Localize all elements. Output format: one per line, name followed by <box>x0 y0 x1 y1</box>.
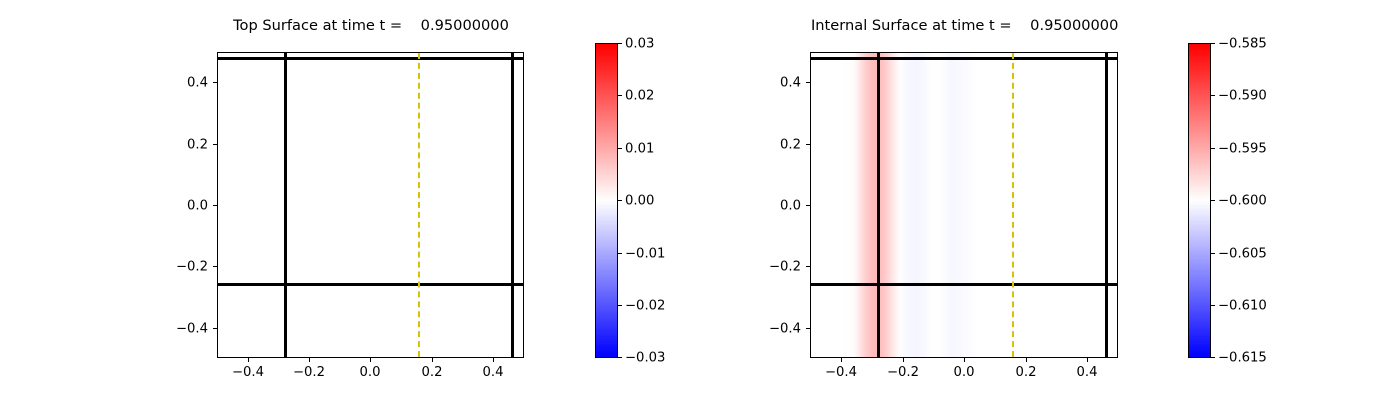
interface-vline-solid-right <box>877 53 880 357</box>
xtick-mark <box>1087 358 1088 362</box>
panel-internal-surface: Internal Surface at time t = 0.95000000 … <box>0 0 1400 400</box>
interface-hline-solid-right <box>811 283 1117 286</box>
ytick-mark <box>806 266 810 267</box>
axes-internal-surface[interactable] <box>810 52 1118 358</box>
colorbar-internal-surface[interactable] <box>1188 43 1211 358</box>
colorbar-tick-label: −0.595 <box>1218 142 1267 155</box>
xtick-label: −0.4 <box>825 366 857 379</box>
ytick-mark <box>806 82 810 83</box>
xtick-mark <box>1026 358 1027 362</box>
boundary-vline-solid-right <box>1105 53 1108 357</box>
colorbar-tick-mark <box>1211 43 1215 44</box>
colorbar-tick-mark <box>1211 253 1215 254</box>
colorbar-tick-label: −0.590 <box>1218 89 1267 102</box>
ytick-label: −0.4 <box>751 322 801 335</box>
colorbar-gradient <box>1189 44 1210 357</box>
ytick-label: 0.0 <box>751 199 801 212</box>
xtick-mark <box>841 358 842 362</box>
xtick-mark <box>964 358 965 362</box>
colorbar-tick-label: −0.585 <box>1218 37 1267 50</box>
matplotlib-figure: Top Surface at time t = 0.95000000 −0.4 … <box>0 0 1400 400</box>
colorbar-tick-mark <box>1211 357 1215 358</box>
ytick-mark <box>806 205 810 206</box>
xtick-label: 0.4 <box>1077 366 1098 379</box>
colorbar-tick-mark <box>1211 200 1215 201</box>
heatmap-image-internal-surface <box>811 53 1117 357</box>
colorbar-tick-label: −0.600 <box>1218 194 1267 207</box>
ytick-label: 0.4 <box>751 76 801 89</box>
ytick-mark <box>806 328 810 329</box>
colorbar-tick-label: −0.610 <box>1218 299 1267 312</box>
ytick-mark <box>806 144 810 145</box>
xtick-label: −0.2 <box>887 366 919 379</box>
top-hline-solid-right <box>811 57 1117 60</box>
xtick-label: 0.2 <box>1016 366 1037 379</box>
ytick-label: −0.2 <box>751 260 801 273</box>
xtick-label: 0.0 <box>954 366 975 379</box>
probe-vline-dashed-right <box>1012 53 1014 357</box>
colorbar-tick-label: −0.615 <box>1218 351 1267 364</box>
colorbar-tick-mark <box>1211 148 1215 149</box>
colorbar-tick-mark <box>1211 305 1215 306</box>
ytick-label: 0.2 <box>751 138 801 151</box>
xtick-mark <box>903 358 904 362</box>
colorbar-tick-label: −0.605 <box>1218 247 1267 260</box>
colorbar-tick-mark <box>1211 95 1215 96</box>
panel-title-internal-surface: Internal Surface at time t = 0.95000000 <box>811 19 1118 34</box>
